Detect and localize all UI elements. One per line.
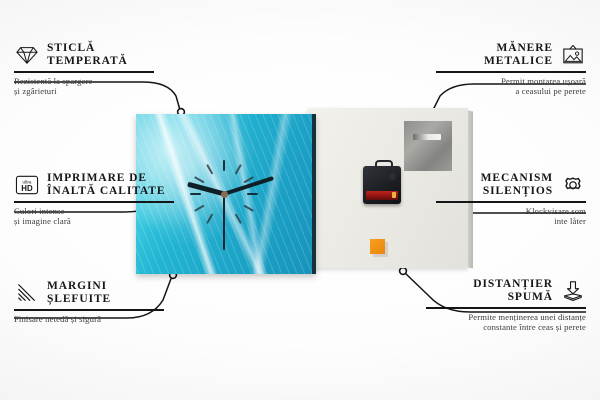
feature-subtitle-line2: a ceasului pe perete [416, 86, 586, 96]
clock-center-pin [221, 191, 228, 198]
feature-silent-mechanism: MECANISM SILENȚIOS Klockvisare som inte … [416, 172, 586, 226]
feature-subtitle-line1: Culori intense [14, 206, 204, 216]
feature-polished-edges: MARGINI ȘLEFUITE Finisare netedă și sigu… [14, 280, 194, 324]
feature-header: ultra HD IMPRIMARE DE ÎNALTĂ CALITATE [14, 172, 204, 198]
second-hand [223, 194, 225, 250]
ultra-hd-badge-icon: ultra HD [14, 174, 40, 196]
feature-title-line1: MECANISM [481, 172, 553, 185]
feature-title-line1: STICLĂ [47, 42, 128, 55]
metal-hanger-plate [404, 121, 452, 171]
feature-subtitle-line2: inte låter [416, 216, 586, 226]
hanger-slot [413, 134, 441, 140]
feature-subtitle-line1: Permite menținerea unei distanțe [406, 312, 586, 322]
feature-title-line1: MARGINI [47, 280, 111, 293]
feature-divider [426, 307, 586, 309]
diamond-icon [14, 44, 40, 66]
feature-subtitle-line1: Permit montarea ușoară [416, 76, 586, 86]
mechanism-knob [389, 173, 396, 180]
feature-header: MARGINI ȘLEFUITE [14, 280, 194, 306]
feature-foam-spacer: DISTANȚIER SPUMĂ Permite menținerea unei… [406, 278, 586, 332]
feature-header: MECANISM SILENȚIOS [416, 172, 586, 198]
feature-divider [14, 201, 174, 203]
feature-title-line1: IMPRIMARE DE [47, 172, 165, 185]
feature-title-line2: ȘLEFUITE [47, 293, 111, 306]
feature-title-line2: ÎNALTĂ CALITATE [47, 185, 165, 198]
feature-divider [436, 71, 586, 73]
feature-title-line1: MĂNERE [484, 42, 553, 55]
infographic-canvas: STICLĂ TEMPERATĂ Rezistentă la spargere … [0, 0, 600, 400]
gear-icon [560, 174, 586, 196]
arrow-down-pad-icon [560, 280, 586, 302]
feature-divider [14, 71, 154, 73]
feature-subtitle-line1: Rezistentă la spargere [14, 76, 174, 86]
feature-metal-handles: MĂNERE METALICE Permit montarea ușoară a… [416, 42, 586, 96]
feature-divider [14, 309, 164, 311]
feature-subtitle-line1: Klockvisare som [416, 206, 586, 216]
mechanism-hanger-loop [375, 160, 393, 171]
feature-subtitle-line2: și zgârieturi [14, 86, 174, 96]
battery [366, 191, 398, 200]
feature-title-line2: SILENȚIOS [481, 185, 553, 198]
feature-subtitle-line2: constante între ceas și perete [406, 322, 586, 332]
feature-title-line2: TEMPERATĂ [47, 55, 128, 68]
diagonal-lines-icon [14, 282, 40, 304]
hanging-picture-icon [560, 44, 586, 66]
feature-subtitle-line1: Finisare netedă și sigură [14, 314, 194, 324]
foam-spacer [370, 239, 385, 254]
svg-text:HD: HD [21, 184, 33, 193]
feature-tempered-glass: STICLĂ TEMPERATĂ Rezistentă la spargere … [14, 42, 174, 96]
feature-header: DISTANȚIER SPUMĂ [406, 278, 586, 304]
clock-mechanism [363, 166, 401, 204]
feature-title-line1: DISTANȚIER [473, 278, 553, 291]
feature-title-line2: METALICE [484, 55, 553, 68]
feature-header: STICLĂ TEMPERATĂ [14, 42, 174, 68]
feature-divider [436, 201, 586, 203]
feature-title-line2: SPUMĂ [473, 291, 553, 304]
feature-subtitle-line2: și imagine clară [14, 216, 204, 226]
feature-high-quality-print: ultra HD IMPRIMARE DE ÎNALTĂ CALITATE Cu… [14, 172, 204, 226]
feature-header: MĂNERE METALICE [416, 42, 586, 68]
